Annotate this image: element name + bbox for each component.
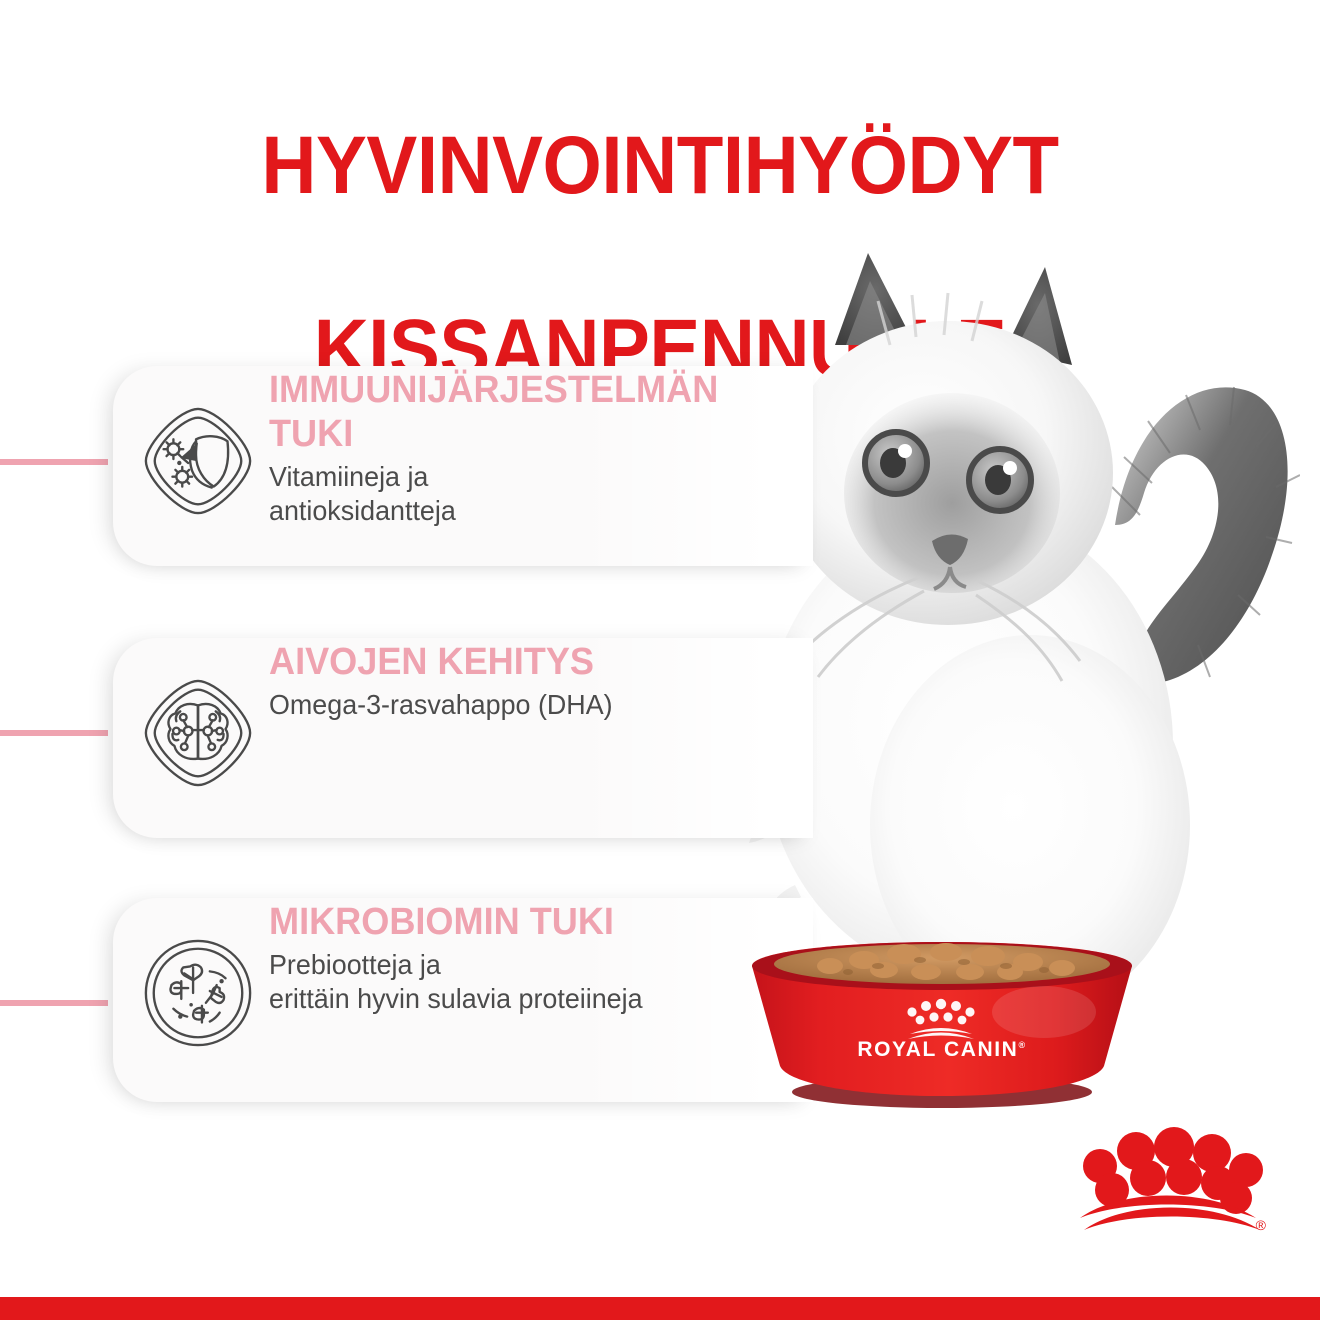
benefit-text-microbiome: MIKROBIOMIN TUKI Prebiootteja ja erittäi… xyxy=(269,898,658,1016)
brain-icon xyxy=(139,674,257,792)
connector-line-1 xyxy=(0,459,108,465)
registered-mark: ® xyxy=(1256,1217,1267,1233)
benefit-heading: AIVOJEN KEHITYS xyxy=(269,640,609,684)
benefit-card-immune: IMMUUNIJÄRJESTELMÄN TUKI Vitamiineja ja … xyxy=(113,366,813,566)
royal-canin-crown-logo: ® xyxy=(1060,1126,1272,1242)
benefit-heading: IMMUUNIJÄRJESTELMÄN TUKI xyxy=(269,368,786,456)
svg-text:ROYAL CANIN®: ROYAL CANIN® xyxy=(857,1038,1026,1061)
benefit-description: Vitamiineja ja antioksidantteja xyxy=(269,460,791,528)
infographic-page: HYVINVOINTIHYÖDYT KISSANPENNULLE xyxy=(0,0,1320,1320)
benefit-text-brain: AIVOJEN KEHITYS Omega-3-rasvahappo (DHA) xyxy=(269,638,627,722)
shield-germs-icon xyxy=(139,402,257,520)
connector-line-2 xyxy=(0,730,108,736)
benefit-card-microbiome: MIKROBIOMIN TUKI Prebiootteja ja erittäi… xyxy=(113,898,813,1102)
page-title-line-1: HYVINVOINTIHYÖDYT xyxy=(46,120,1274,212)
benefit-text-immune: IMMUUNIJÄRJESTELMÄN TUKI Vitamiineja ja … xyxy=(269,366,813,528)
benefit-heading: MIKROBIOMIN TUKI xyxy=(269,900,639,944)
bottom-red-bar xyxy=(0,1297,1320,1320)
connector-line-3 xyxy=(0,1000,108,1006)
benefit-description: Omega-3-rasvahappo (DHA) xyxy=(269,688,613,722)
microbiome-icon xyxy=(139,934,257,1052)
benefit-card-brain: AIVOJEN KEHITYS Omega-3-rasvahappo (DHA) xyxy=(113,638,813,838)
benefit-description: Prebiootteja ja erittäin hyvin sulavia p… xyxy=(269,948,643,1016)
food-bowl: ROYAL CANIN® xyxy=(744,940,1140,1118)
